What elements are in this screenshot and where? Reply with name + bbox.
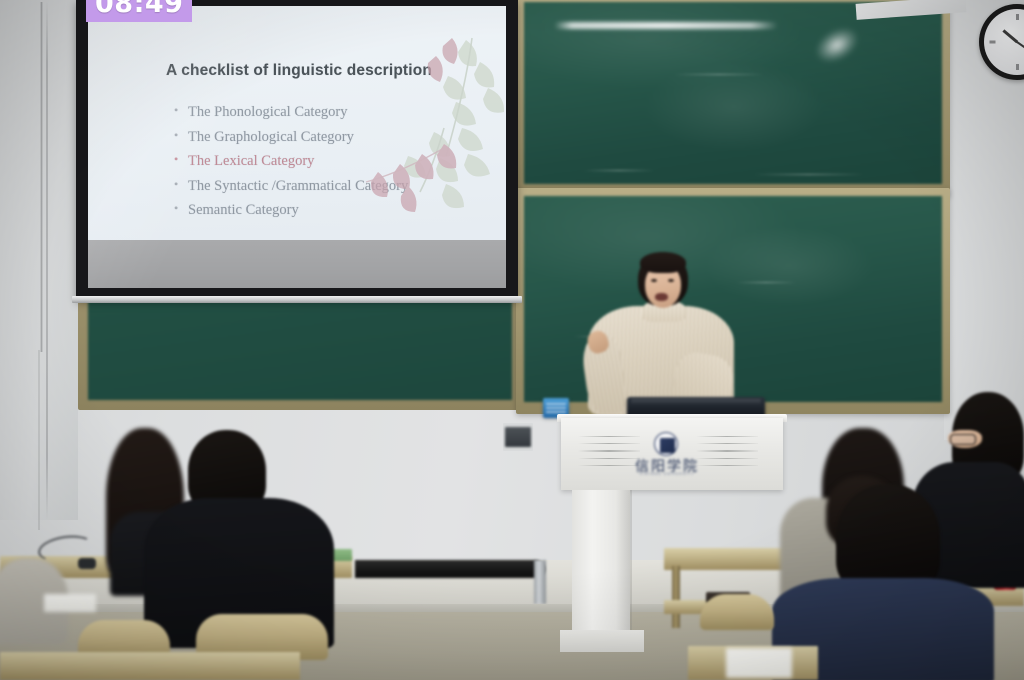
presenter-eye-left [651,279,657,282]
chalk-dust [736,282,796,283]
presenter-bangs [640,252,686,273]
wall-mounted-control-box [505,427,531,447]
slide-bottom-band [88,240,506,288]
wall-cable [40,2,43,352]
wall-baseboard [355,560,545,578]
desk-leg [672,566,680,628]
timestamp-overlay: 08:49 [86,0,192,22]
monitor-sheen [631,399,761,405]
desk-microphone [78,558,96,569]
chalk-dust [674,74,764,75]
paper-sheet [726,648,792,678]
chalk-smudge [704,226,874,306]
clock-face [984,9,1024,75]
presenter-mouth [655,293,668,301]
fluorescent-reflection [554,22,778,29]
wall-seam-lower [38,350,40,530]
board-glare [810,21,865,70]
crest-inner-shield [660,438,675,453]
chalk-smudge [644,62,824,152]
chalk-dust [754,174,864,175]
eyeglasses-icon [950,434,976,445]
clock-tick-9 [990,41,996,44]
university-name-en: XINYANG UNIVERSITY [628,472,706,476]
paper-sheet [44,594,96,612]
wall-pipe [534,560,546,604]
clock-tick-6 [1016,64,1019,70]
classroom-scene: A checklist of linguistic description Th… [0,0,1024,680]
chalkboard-upper-surface [524,2,942,184]
clock-tick-12 [1016,14,1019,20]
clock-hour-hand [1002,30,1017,43]
projection-screen: A checklist of linguistic description Th… [76,0,518,300]
wall-seam [46,0,48,520]
leaf-sprig-decoration [348,32,504,222]
projected-slide: A checklist of linguistic description Th… [88,6,506,288]
podium-column-shadow [616,490,632,640]
clock-minute-hand [1016,41,1024,58]
student-desk [0,652,300,680]
podium-base [560,630,644,652]
university-crest-icon [654,432,678,456]
chalk-dust [584,170,654,171]
screen-roller-bar [72,296,522,303]
chair-backrest [700,594,774,630]
presenter-eye-right [668,279,674,282]
